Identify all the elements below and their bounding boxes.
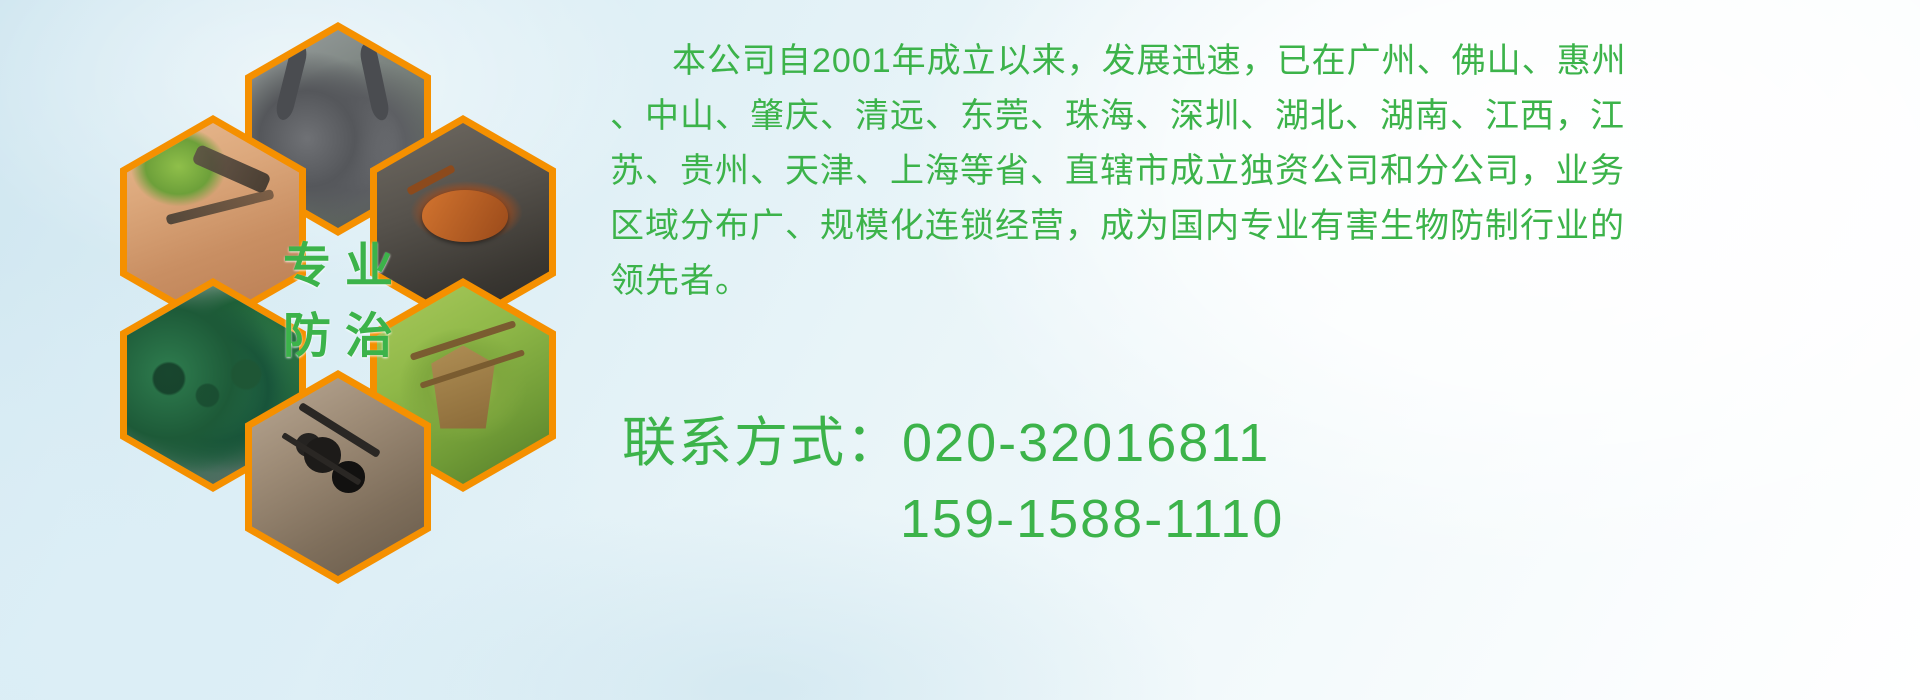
contact-phone-primary[interactable]: 联系方式：020-32016811 <box>622 405 1912 481</box>
about-line-1: 本公司自2001年成立以来，发展迅速，已在广州、佛山、惠州 <box>610 34 1900 89</box>
badge-line-2: 防治 <box>269 313 407 361</box>
contact-block: 联系方式：020-32016811 159-1588-1110 <box>622 405 1912 557</box>
hex-photo-cluster: 专业 防治 <box>95 10 595 570</box>
about-paragraph: 本公司自2001年成立以来，发展迅速，已在广州、佛山、惠州 、中山、肇庆、清远、… <box>610 34 1900 309</box>
badge-line-1: 专业 <box>269 243 407 291</box>
about-line-5: 领先者。 <box>610 254 1900 309</box>
badge-professional-treatment: 专业 防治 <box>245 195 431 409</box>
about-line-2: 、中山、肇庆、清远、东莞、珠海、深圳、湖北、湖南、江西，江 <box>610 89 1900 144</box>
about-line-3: 苏、贵州、天津、上海等省、直辖市成立独资公司和分公司，业务 <box>610 144 1900 199</box>
contact-phone-secondary[interactable]: 159-1588-1110 <box>622 481 1912 557</box>
about-line-4: 区域分布广、规模化连锁经营，成为国内专业有害生物防制行业的 <box>610 199 1900 254</box>
pest-control-banner: 专业 防治 本公司自2001年成立以来，发展迅速，已在广州、佛山、惠州 、中山、… <box>0 0 1920 700</box>
